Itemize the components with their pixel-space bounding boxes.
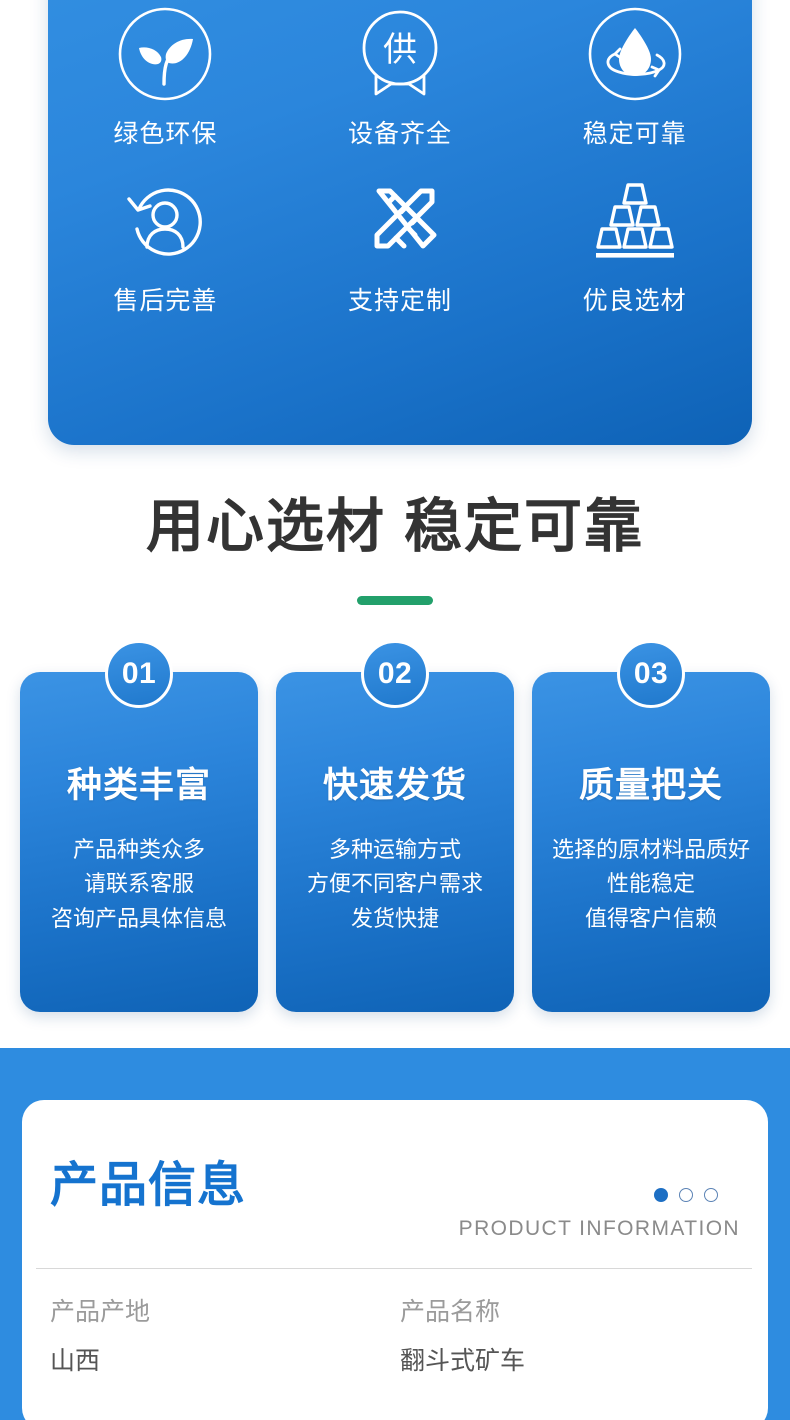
section-divider <box>357 596 433 605</box>
feature-label: 稳定可靠 <box>583 122 687 147</box>
spec-value: 翻斗式矿车 <box>400 1349 750 1374</box>
supply-sign-icon: 供 <box>352 0 448 108</box>
product-info-title: 产品信息 <box>50 1160 246 1213</box>
gold-ingots-icon <box>587 167 683 275</box>
spec-table: 产品产地 山西 产品名称 翻斗式矿车 <box>50 1300 750 1374</box>
spec-cell-origin: 产品产地 山西 <box>50 1300 400 1374</box>
card-line: 产品种类众多 <box>51 833 227 867</box>
product-info-header: 产品信息 PRODUCT INFORMATION <box>50 1160 740 1268</box>
carousel-dot[interactable] <box>704 1188 718 1202</box>
card-title: 质量把关 <box>579 768 723 803</box>
divider-line <box>36 1268 752 1269</box>
advantage-card-3[interactable]: 03 质量把关 选择的原材料品质好 性能稳定 值得客户信赖 <box>532 672 770 1012</box>
feature-label: 绿色环保 <box>113 122 217 147</box>
card-line: 方便不同客户需求 <box>307 867 483 901</box>
card-line: 发货快捷 <box>307 902 483 936</box>
product-info-panel: 产品信息 PRODUCT INFORMATION 产品产地 山西 产品名称 翻斗… <box>22 1100 768 1420</box>
card-line: 咨询产品具体信息 <box>51 902 227 936</box>
feature-label: 设备齐全 <box>348 122 452 147</box>
card-body: 选择的原材料品质好 性能稳定 值得客户信赖 <box>544 833 758 936</box>
card-body: 多种运输方式 方便不同客户需求 发货快捷 <box>299 833 491 936</box>
svg-text:供: 供 <box>383 31 417 69</box>
card-title: 快速发货 <box>323 768 467 803</box>
card-number-badge: 02 <box>361 640 429 708</box>
water-drop-rotate-icon <box>587 0 683 108</box>
card-number-badge: 01 <box>105 640 173 708</box>
product-info-subtitle: PRODUCT INFORMATION <box>459 1218 740 1239</box>
advantage-cards: 01 种类丰富 产品种类众多 请联系客服 咨询产品具体信息 02 快速发货 多种… <box>20 640 770 1020</box>
spec-label: 产品名称 <box>400 1300 750 1325</box>
sprout-icon <box>117 0 213 108</box>
card-number-badge: 03 <box>617 640 685 708</box>
card-line: 请联系客服 <box>51 867 227 901</box>
page-root: 绿色环保 供 设备齐全 <box>0 0 790 1420</box>
feature-label: 优良选材 <box>583 289 687 314</box>
feature-item-material[interactable]: 优良选材 <box>517 167 752 314</box>
feature-item-stable[interactable]: 稳定可靠 <box>517 0 752 147</box>
card-line: 多种运输方式 <box>307 833 483 867</box>
spec-cell-name: 产品名称 翻斗式矿车 <box>400 1300 750 1374</box>
card-title: 种类丰富 <box>67 768 211 803</box>
feature-label: 支持定制 <box>348 289 452 314</box>
feature-item-equipment[interactable]: 供 设备齐全 <box>283 0 518 147</box>
after-sales-user-icon <box>117 167 213 275</box>
feature-grid: 绿色环保 供 设备齐全 <box>48 0 752 314</box>
feature-label: 售后完善 <box>113 289 217 314</box>
card-line: 选择的原材料品质好 <box>552 833 750 867</box>
card-line: 性能稳定 <box>552 867 750 901</box>
section-title: 用心选材 稳定可靠 <box>0 498 790 556</box>
spec-label: 产品产地 <box>50 1300 400 1325</box>
feature-item-custom[interactable]: 支持定制 <box>283 167 518 314</box>
card-body: 产品种类众多 请联系客服 咨询产品具体信息 <box>43 833 235 936</box>
feature-item-green[interactable]: 绿色环保 <box>48 0 283 147</box>
carousel-dot-active[interactable] <box>654 1188 668 1202</box>
advantage-card-1[interactable]: 01 种类丰富 产品种类众多 请联系客服 咨询产品具体信息 <box>20 672 258 1012</box>
feature-highlight-card: 绿色环保 供 设备齐全 <box>48 0 752 445</box>
feature-item-aftersales[interactable]: 售后完善 <box>48 167 283 314</box>
carousel-dots[interactable] <box>654 1188 718 1202</box>
carousel-dot[interactable] <box>679 1188 693 1202</box>
pencil-ruler-icon <box>352 167 448 275</box>
spec-value: 山西 <box>50 1349 400 1374</box>
card-line: 值得客户信赖 <box>552 902 750 936</box>
advantage-card-2[interactable]: 02 快速发货 多种运输方式 方便不同客户需求 发货快捷 <box>276 672 514 1012</box>
